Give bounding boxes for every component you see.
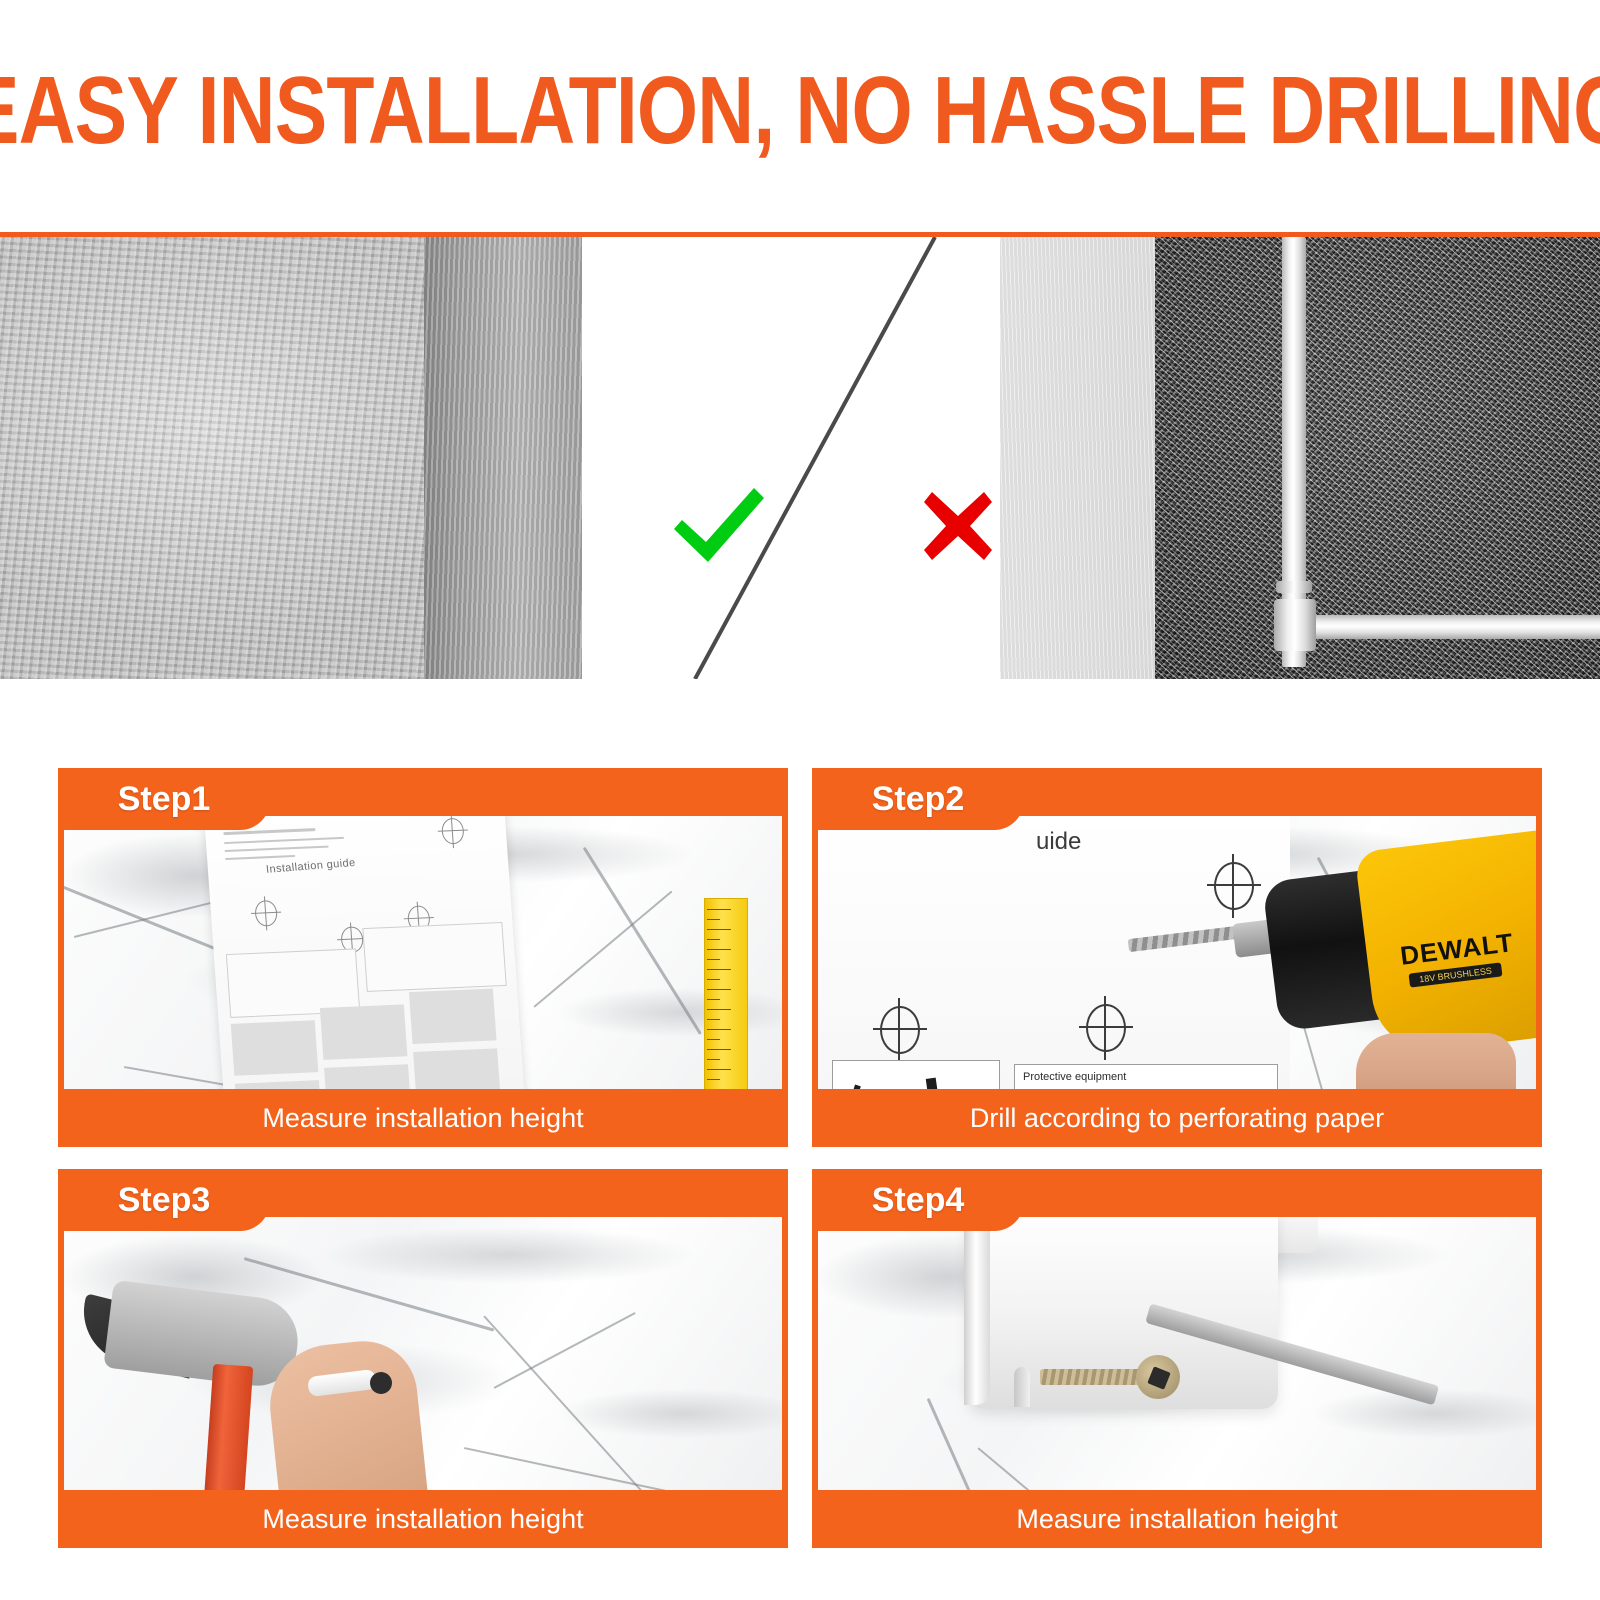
step-4-photo [818, 1217, 1536, 1490]
hand [1356, 1033, 1516, 1089]
step-1-badge-label: Step1 [118, 780, 211, 819]
step-3-badge: Step3 [58, 1169, 270, 1231]
step-4-badge: Step4 [812, 1169, 1024, 1231]
protective-equipment-box: Protective equipment [1014, 1064, 1278, 1089]
step-3-caption: Measure installation height [58, 1490, 788, 1548]
step-3-photo [64, 1217, 782, 1490]
step-4-badge-label: Step4 [872, 1181, 965, 1220]
pipes-in-wall-photo [1000, 237, 1600, 679]
diagonal-divider [582, 237, 1000, 679]
step-panel-1: Installation guide [58, 768, 788, 1147]
bracket-arm [964, 1217, 990, 1405]
protective-equipment-label: Protective equipment [1023, 1071, 1126, 1083]
step-2-badge: Step2 [812, 768, 1024, 830]
guide-heading: Installation guide [265, 857, 356, 876]
page-title-bar: EASY INSTALLATION, NO HASSLE DRILLING [0, 0, 1600, 222]
step-panel-4: Step4 Measure installation height [812, 1169, 1542, 1548]
step-1-photo: Installation guide [64, 816, 782, 1089]
step-2-caption: Drill according to perforating paper [812, 1089, 1542, 1147]
solid-wall-photo [0, 237, 582, 679]
step-2-badge-label: Step2 [872, 780, 965, 819]
installation-guide-sheet: Installation guide [204, 816, 528, 1089]
drill-target-marker [880, 1006, 920, 1054]
check-mark-icon [668, 482, 768, 568]
wall-comparison-section: Pipes Inside the Wall Load-bearing Solid… [0, 232, 1600, 720]
yellow-ruler [704, 898, 748, 1089]
bracket-peg [1014, 1367, 1030, 1407]
pipe-collar [1276, 581, 1312, 593]
installation-steps-grid: Installation guide [58, 768, 1542, 1548]
rough-wall-texture [1155, 237, 1600, 679]
horizontal-pipe [1292, 615, 1600, 639]
step-1-caption: Measure installation height [58, 1089, 788, 1147]
step-1-badge: Step1 [58, 768, 270, 830]
cross-mark-icon [922, 490, 994, 562]
screw-shaft [1040, 1369, 1150, 1385]
page-title: EASY INSTALLATION, NO HASSLE DRILLING [0, 63, 1600, 159]
step-4-caption: Measure installation height [812, 1490, 1542, 1548]
drilled-hole [370, 1372, 392, 1394]
step-panel-2: uide Protective equipment DEWALT [812, 768, 1542, 1147]
section-top-rule [0, 232, 1600, 237]
drill-target-marker [1214, 862, 1254, 910]
guide-heading-partial: uide [1036, 828, 1081, 856]
step-3-badge-label: Step3 [118, 1181, 211, 1220]
step-2-photo: uide Protective equipment DEWALT [818, 816, 1536, 1089]
pipe-tee-fitting [1274, 599, 1316, 651]
perforating-paper: uide Protective equipment [818, 816, 1290, 1089]
drill-target-marker [1086, 1004, 1126, 1052]
step-panel-3: Step3 Measure installation height [58, 1169, 788, 1548]
